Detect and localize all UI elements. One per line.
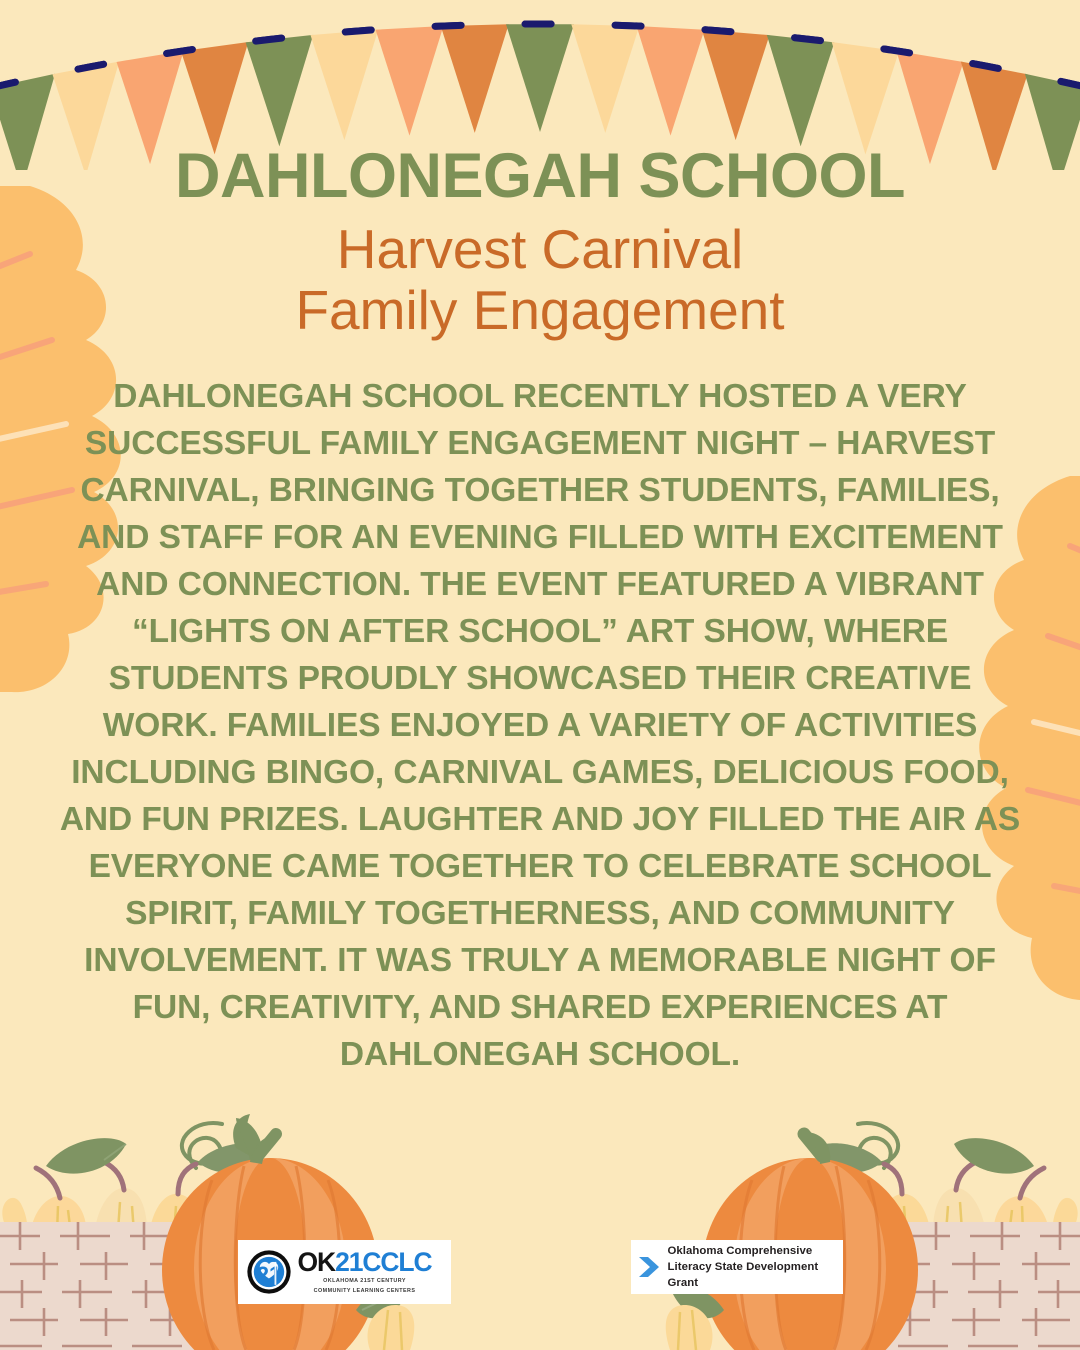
ok21-badge-icon: 21 [246, 1249, 292, 1295]
ocl-grant-logo: Oklahoma Comprehensive Literacy State De… [631, 1240, 843, 1294]
ok21-subtitle-line-2: COMMUNITY LEARNING CENTERS [298, 1287, 432, 1295]
logo-row: 21 OK21CCLC OKLAHOMA 21ST CENTURY COMMUN… [0, 1240, 1080, 1304]
ok21cclc-logo: 21 OK21CCLC OKLAHOMA 21ST CENTURY COMMUN… [238, 1240, 451, 1304]
page-title: DAHLONEGAH SCHOOL [0, 143, 1080, 210]
pumpkins-gourds-basket-icon [0, 1110, 1080, 1350]
poster-content: DAHLONEGAH SCHOOL Harvest Carnival Famil… [0, 0, 1080, 1078]
ocl-grant-line-3: Grant [668, 1275, 819, 1291]
chevron-right-icon [637, 1254, 661, 1280]
event-subtitle-line-1: Harvest Carnival [0, 219, 1080, 281]
event-subtitle: Harvest Carnival Family Engagement [0, 219, 1080, 342]
event-subtitle-line-2: Family Engagement [0, 280, 1080, 342]
ocl-grant-text: Oklahoma Comprehensive Literacy State De… [668, 1243, 819, 1292]
ok21-subtitle-line-1: OKLAHOMA 21ST CENTURY [298, 1277, 432, 1285]
ocl-grant-line-2: Literacy State Development [668, 1259, 819, 1275]
ok21-wordmark: OK21CCLC OKLAHOMA 21ST CENTURY COMMUNITY… [298, 1249, 432, 1296]
ocl-grant-line-1: Oklahoma Comprehensive [668, 1243, 819, 1259]
ok21-wordmark-21cclc: 21CCLC [335, 1247, 431, 1277]
poster-canvas: DAHLONEGAH SCHOOL Harvest Carnival Famil… [0, 0, 1080, 1350]
ok21-wordmark-ok: OK [298, 1247, 336, 1277]
body-paragraph: DAHLONEGAH SCHOOL RECENTLY HOSTED A VERY… [58, 373, 1022, 1078]
svg-text:21: 21 [256, 1262, 281, 1287]
